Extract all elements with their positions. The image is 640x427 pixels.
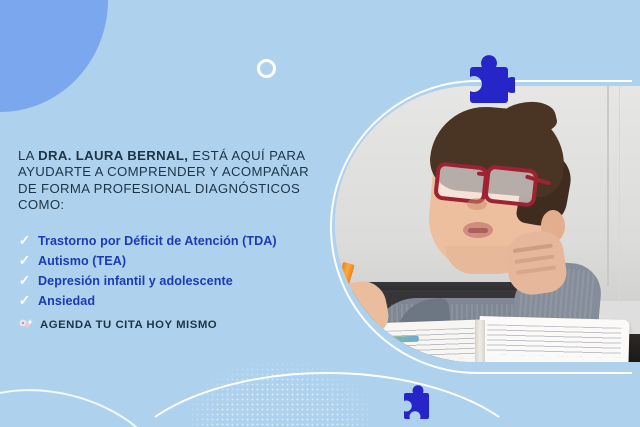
list-item: ✓ Depresión infantil y adolescente [18, 272, 348, 289]
poster-canvas: LA DRA. LAURA BERNAL, ESTÁ AQUÍ PARA AYU… [0, 0, 640, 427]
headline: LA DRA. LAURA BERNAL, ESTÁ AQUÍ PARA AYU… [18, 148, 328, 214]
boy-photo [335, 86, 640, 362]
top-left-disc [0, 0, 108, 112]
sparkle-icon [18, 318, 33, 331]
list-item-label: Ansiedad [38, 293, 95, 309]
halftone-dots [190, 362, 370, 427]
check-icon: ✓ [18, 292, 31, 308]
arc-line-decoration [110, 372, 544, 427]
puzzle-piece-icon-bottom [394, 385, 434, 427]
concentric-rings-icon [0, 0, 108, 112]
diagnosis-list: ✓ Trastorno por Déficit de Atención (TDA… [18, 232, 348, 312]
check-icon: ✓ [18, 272, 31, 288]
list-item: ✓ Ansiedad [18, 292, 348, 309]
arc-line-decoration-left [0, 365, 190, 427]
doctor-name: DRA. LAURA BERNAL, [38, 148, 188, 163]
check-icon: ✓ [18, 232, 31, 248]
list-item-label: Trastorno por Déficit de Atención (TDA) [38, 233, 277, 249]
headline-part1: LA [18, 148, 38, 163]
check-icon: ✓ [18, 252, 31, 268]
list-item: ✓ Trastorno por Déficit de Atención (TDA… [18, 232, 348, 249]
photo-panel [335, 86, 640, 362]
circle-outline-icon [257, 59, 276, 78]
cta-line[interactable]: AGENDA TU CITA HOY MISMO [18, 318, 217, 331]
cta-label: AGENDA TU CITA HOY MISMO [40, 319, 217, 331]
list-item-label: Depresión infantil y adolescente [38, 273, 233, 289]
list-item: ✓ Autismo (TEA) [18, 252, 348, 269]
list-item-label: Autismo (TEA) [38, 253, 126, 269]
